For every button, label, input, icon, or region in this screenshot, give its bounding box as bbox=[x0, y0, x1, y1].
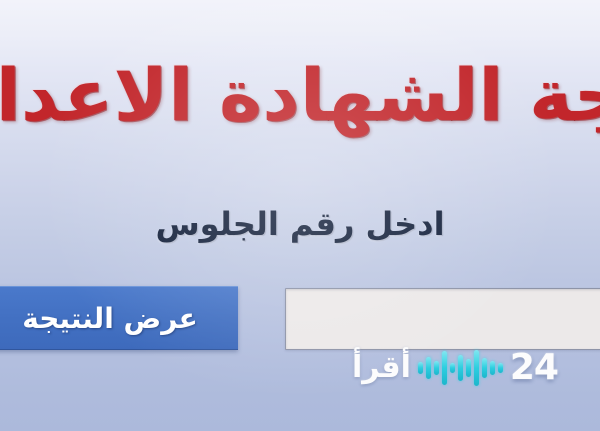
waveform-bar-8 bbox=[482, 358, 487, 378]
result-lookup-page: نتيجة الشهادة الاعدادية ادخل رقم الجلوس … bbox=[0, 0, 600, 431]
waveform-bar-9 bbox=[490, 361, 495, 375]
site-logo: أقرأ 24 bbox=[352, 344, 558, 392]
waveform-bar-3 bbox=[442, 351, 447, 385]
waveform-bar-1 bbox=[426, 357, 431, 379]
waveform-bar-10 bbox=[498, 363, 503, 373]
waveform-bar-7 bbox=[474, 350, 479, 386]
waveform-bar-2 bbox=[434, 361, 439, 375]
page-title-container: نتيجة الشهادة الاعدادية bbox=[0, 44, 600, 148]
page-title: نتيجة الشهادة الاعدادية bbox=[0, 57, 600, 135]
seat-number-label: ادخل رقم الجلوس bbox=[0, 205, 600, 243]
waveform-bar-0 bbox=[418, 362, 423, 374]
waveform-bar-4 bbox=[450, 363, 455, 373]
view-result-button[interactable]: عرض النتيجة bbox=[0, 286, 238, 350]
waveform-bar-6 bbox=[466, 359, 471, 377]
seat-number-input[interactable] bbox=[285, 288, 600, 350]
logo-word: أقرأ bbox=[352, 353, 411, 383]
audio-waveform-icon bbox=[415, 348, 506, 388]
waveform-bar-5 bbox=[458, 355, 463, 381]
logo-number: 24 bbox=[510, 350, 558, 386]
